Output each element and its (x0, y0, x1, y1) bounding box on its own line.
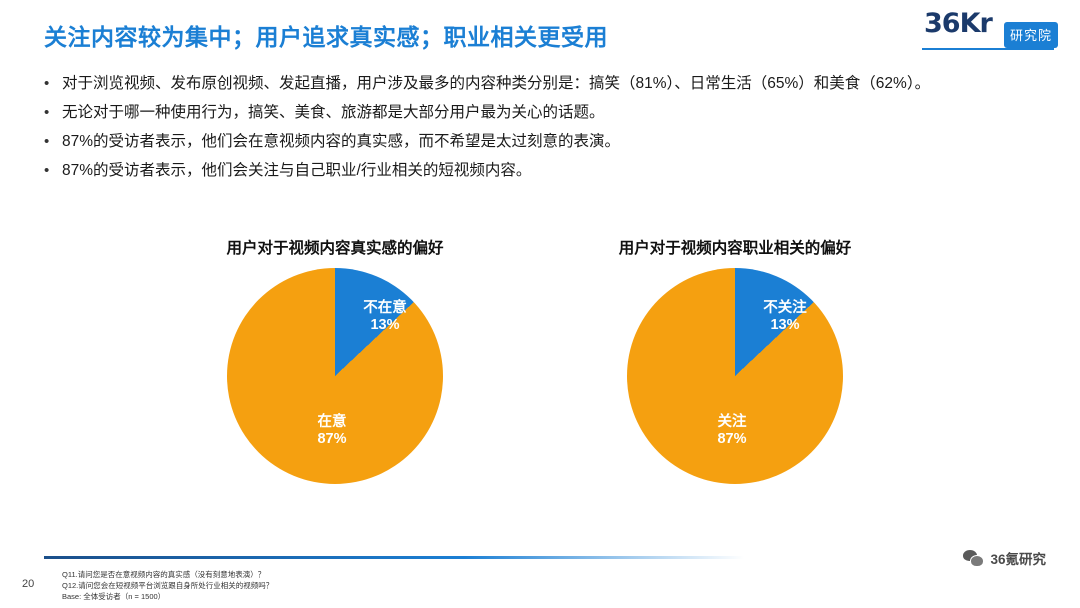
bullet-text: 87%的受访者表示，他们会关注与自己职业/行业相关的短视频内容。 (62, 159, 1044, 183)
slide-root: 关注内容较为集中；用户追求真实感；职业相关更受用 36Kr 研究院 • 对于浏览… (0, 0, 1080, 608)
pie-graphic (627, 268, 843, 484)
list-item: • 无论对于哪一种使用行为，搞笑、美食、旅游都是大部分用户最为关心的话题。 (44, 101, 1044, 125)
bullet-list: • 对于浏览视频、发布原创视频、发起直播，用户涉及最多的内容种类分别是：搞笑（8… (44, 72, 1044, 188)
pie-chart-authenticity: 用户对于视频内容真实感的偏好 不在意 13% 在意 87% (120, 236, 550, 484)
footnote-line: Base: 全体受访者（n = 1500） (62, 592, 273, 603)
list-item: • 87%的受访者表示，他们会关注与自己职业/行业相关的短视频内容。 (44, 159, 1044, 183)
pie-chart-occupation: 用户对于视频内容职业相关的偏好 不关注 13% 关注 87% (520, 236, 950, 484)
bullet-marker: • (44, 72, 62, 95)
page-number: 20 (22, 578, 34, 590)
charts-container: 用户对于视频内容真实感的偏好 不在意 13% 在意 87% 用户对于视频内容职业… (0, 236, 1080, 526)
pie-graphic (227, 268, 443, 484)
bullet-marker: • (44, 130, 62, 153)
bullet-marker: • (44, 101, 62, 124)
bullet-marker: • (44, 159, 62, 182)
footer-divider (44, 556, 744, 559)
bullet-text: 87%的受访者表示，他们会在意视频内容的真实感，而不希望是太过刻意的表演。 (62, 130, 1044, 154)
wechat-account: 36氪研究 (963, 548, 1046, 568)
chart-title: 用户对于视频内容真实感的偏好 (120, 236, 550, 258)
bullet-text: 对于浏览视频、发布原创视频、发起直播，用户涉及最多的内容种类分别是：搞笑（81%… (62, 72, 1044, 96)
footnote-line: Q11.请问您是否在意视频内容的真实感（没有刻意地表演）？ (62, 570, 273, 581)
footnote-line: Q12.请问您会在短视频平台浏览跟自身所处行业相关的视频吗？ (62, 581, 273, 592)
brand-logo: 36Kr 研究院 (918, 8, 1058, 52)
chart-title: 用户对于视频内容职业相关的偏好 (520, 236, 950, 258)
bullet-text: 无论对于哪一种使用行为，搞笑、美食、旅游都是大部分用户最为关心的话题。 (62, 101, 1044, 125)
list-item: • 87%的受访者表示，他们会在意视频内容的真实感，而不希望是太过刻意的表演。 (44, 130, 1044, 154)
logo-badge-label: 研究院 (1004, 22, 1058, 48)
list-item: • 对于浏览视频、发布原创视频、发起直播，用户涉及最多的内容种类分别是：搞笑（8… (44, 72, 1044, 96)
wechat-label: 36氪研究 (990, 548, 1046, 568)
wechat-icon (963, 550, 983, 567)
logo-underline (922, 48, 1054, 50)
logo-wordmark: 36Kr (924, 8, 992, 39)
pie-figure: 不关注 13% 关注 87% (627, 268, 843, 484)
pie-figure: 不在意 13% 在意 87% (227, 268, 443, 484)
footnote-block: Q11.请问您是否在意视频内容的真实感（没有刻意地表演）？ Q12.请问您会在短… (62, 570, 273, 603)
page-title: 关注内容较为集中；用户追求真实感；职业相关更受用 (44, 18, 608, 52)
